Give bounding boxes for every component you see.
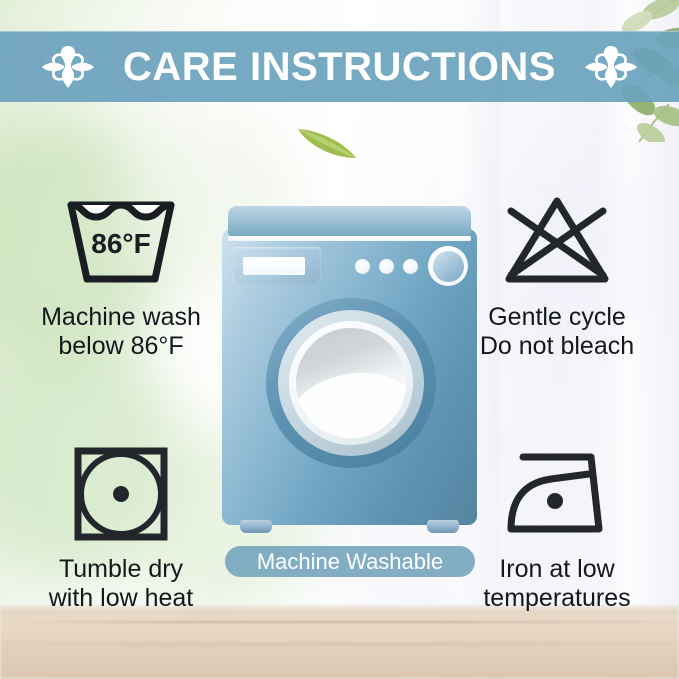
detergent-drawer-slot [243,257,305,275]
do-not-bleach-icon-wrap [452,188,662,293]
iron-low-temperature-icon [495,443,619,543]
care-item-machine-wash: 86°F Machine wash below 86°F [16,188,226,360]
iron-icon-wrap [452,440,662,545]
machine-washable-label: Machine Washable [257,551,443,573]
tumble-dry-icon-wrap [16,440,226,545]
wooden-table-surface [0,605,679,679]
care-label-iron: Iron at low temperatures [452,555,662,612]
detergent-drawer[interactable] [233,247,321,285]
wash-temperature-text: 86°F [91,228,150,259]
washer-door-highlight [296,361,406,438]
do-not-bleach-triangle-icon [497,191,617,291]
wood-grain-line-1 [0,621,679,623]
wash-tub-icon: 86°F [61,191,181,291]
washer-door[interactable] [266,298,436,468]
program-dial-knob[interactable] [428,246,468,286]
washer-top-panel [228,206,471,236]
wash-tub-icon-wrap: 86°F [16,188,226,293]
care-label-machine-wash: Machine wash below 86°F [16,303,226,360]
header-banner: CARE INSTRUCTIONS [0,31,679,102]
care-instructions-infographic: CARE INSTRUCTIONS 86°F Machine wash belo… [0,0,679,679]
wood-grain-line-2 [0,643,679,645]
washer-foot-right [427,520,459,533]
control-button-1[interactable] [355,259,370,274]
page-title: CARE INSTRUCTIONS [123,47,556,87]
control-button-3[interactable] [403,259,418,274]
care-label-gentle-cycle: Gentle cycle Do not bleach [452,303,662,360]
care-item-tumble-dry-low: Tumble dry with low heat [16,440,226,612]
washer-door-ring [278,310,424,456]
tumble-dry-low-heat-icon [66,443,176,543]
program-dial-inner [433,251,464,282]
washer-top-divider [228,236,471,241]
care-item-gentle-cycle-no-bleach: Gentle cycle Do not bleach [452,188,662,360]
fleur-de-lis-icon-right [582,44,640,90]
floating-leaf-icon [296,122,358,162]
washing-machine-illustration [222,206,477,536]
washer-door-glass [296,328,406,438]
washer-foot-left [240,520,272,533]
washer-door-rim [289,321,413,445]
care-item-iron-low: Iron at low temperatures [452,440,662,612]
control-button-2[interactable] [379,259,394,274]
machine-washable-badge: Machine Washable [225,546,475,577]
fleur-de-lis-icon-left [39,44,97,90]
care-label-tumble-dry: Tumble dry with low heat [16,555,226,612]
